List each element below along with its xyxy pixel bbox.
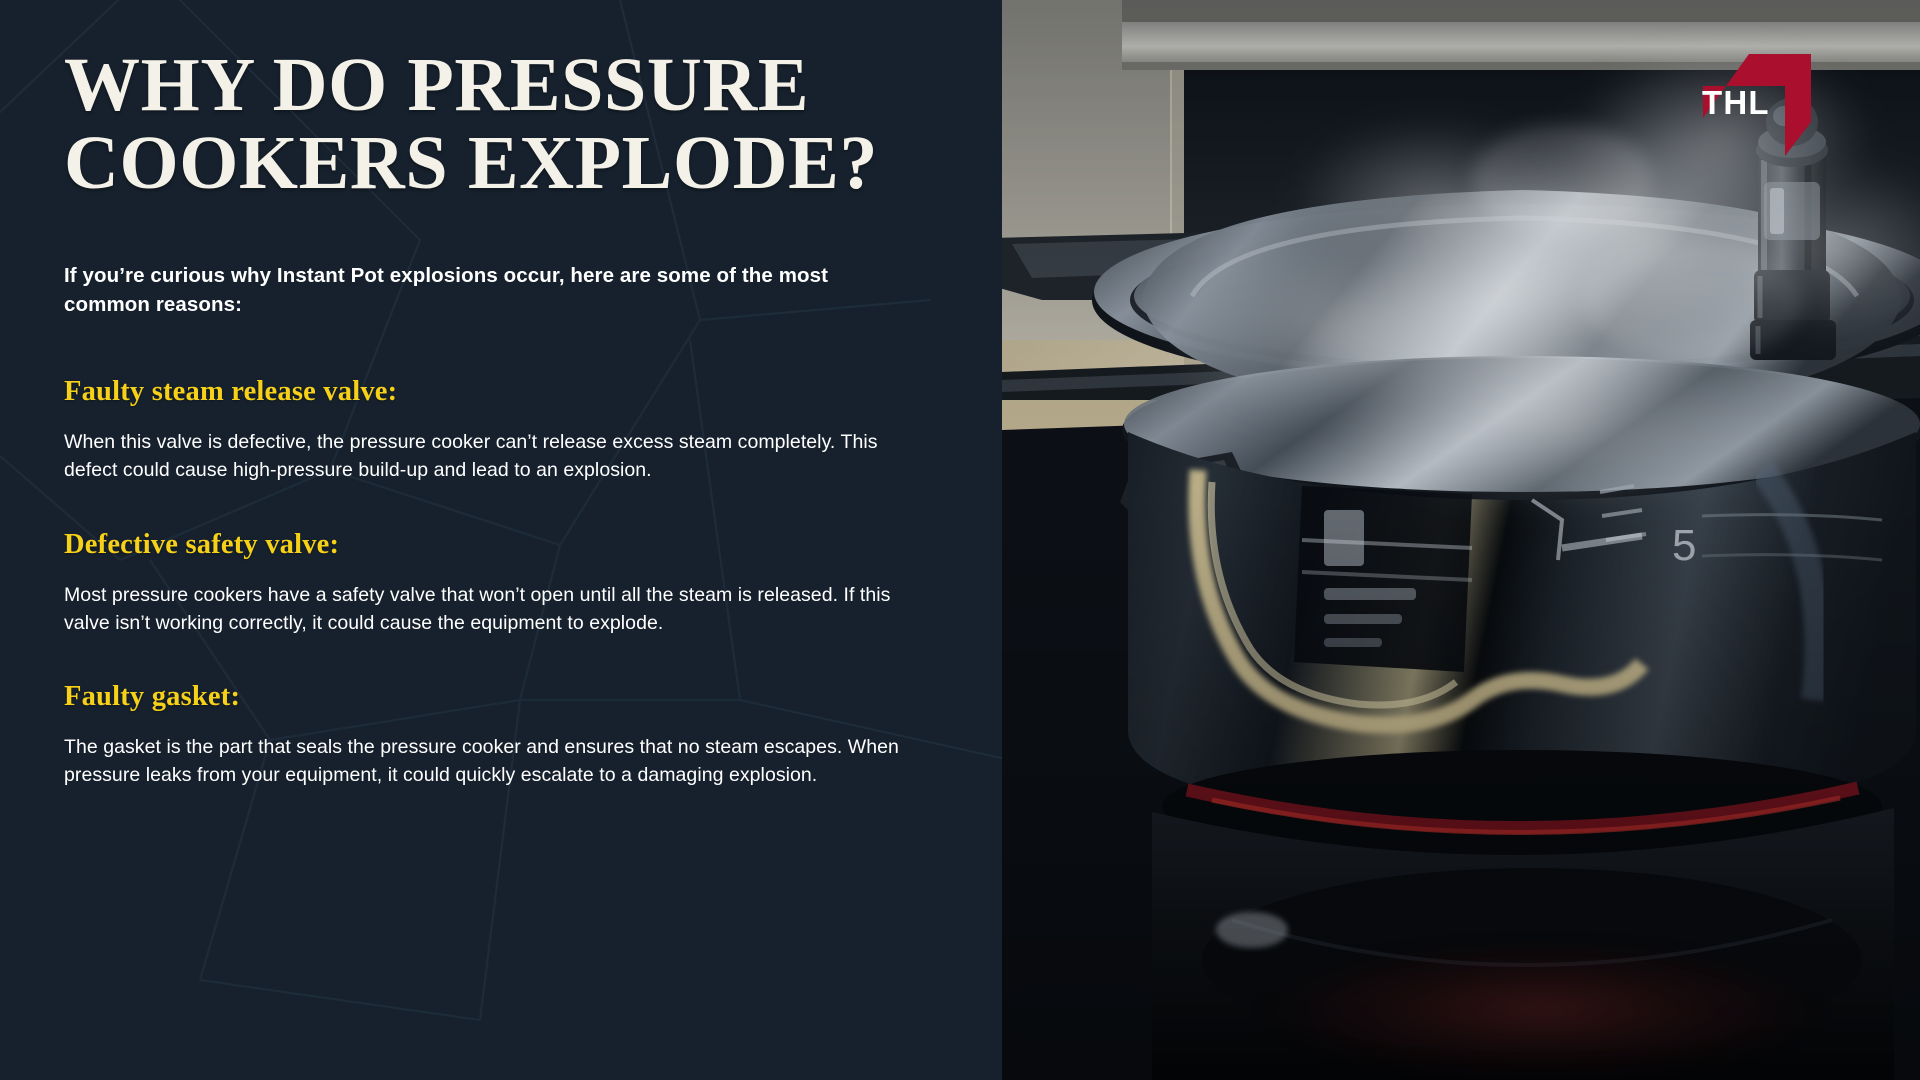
section-heading: Faulty gasket: — [64, 681, 964, 713]
section-heading: Faulty steam release valve: — [64, 376, 964, 408]
section-body: Most pressure cookers have a safety valv… — [64, 582, 904, 638]
section-body: When this valve is defective, the pressu… — [64, 429, 904, 485]
reason-section-2: Defective safety valve: Most pressure co… — [64, 529, 964, 638]
thl-logo[interactable]: THL — [1697, 44, 1817, 156]
content-column: WHY DO PRESSURE COOKERS EXPLODE? If you’… — [64, 0, 964, 790]
section-heading: Defective safety valve: — [64, 529, 964, 561]
section-body: The gasket is the part that seals the pr… — [64, 734, 904, 790]
reason-section-3: Faulty gasket: The gasket is the part th… — [64, 681, 964, 790]
page-title: WHY DO PRESSURE COOKERS EXPLODE? — [64, 46, 964, 203]
intro-paragraph: If you’re curious why Instant Pot explos… — [64, 261, 884, 320]
title-line-1: WHY DO PRESSURE — [64, 43, 809, 127]
text-panel: WHY DO PRESSURE COOKERS EXPLODE? If you’… — [0, 0, 1002, 1080]
pressure-cooker-photo: 5 — [1002, 0, 1920, 1080]
reason-section-1: Faulty steam release valve: When this va… — [64, 376, 964, 485]
title-line-2: COOKERS EXPLODE? — [64, 121, 878, 205]
infographic-canvas: WHY DO PRESSURE COOKERS EXPLODE? If you’… — [0, 0, 1920, 1080]
logo-text: THL — [1702, 86, 1770, 119]
